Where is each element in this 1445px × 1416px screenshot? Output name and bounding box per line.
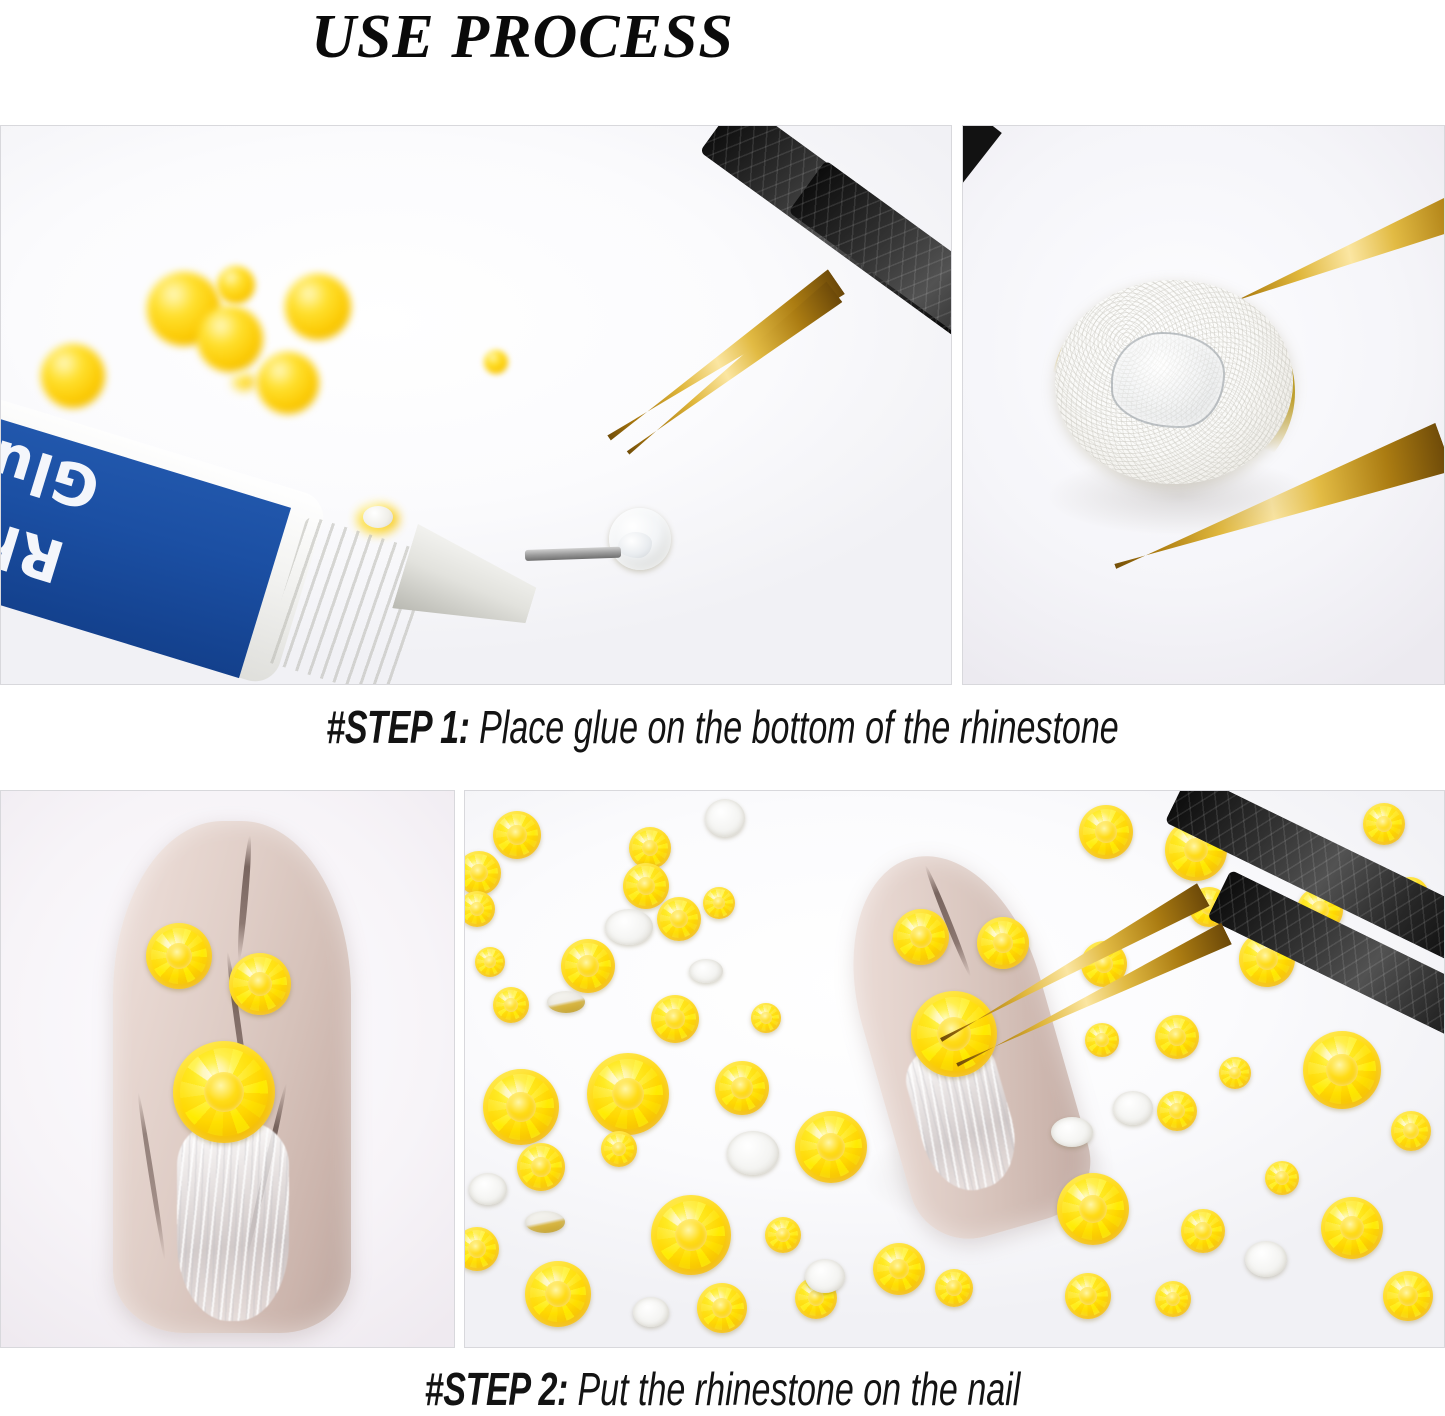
scattered-rhinestone-backside <box>689 959 723 983</box>
scattered-rhinestone <box>1321 1197 1383 1259</box>
scattered-rhinestone <box>483 1069 559 1145</box>
nail-result-scene <box>1 791 454 1347</box>
scattered-rhinestone-backside <box>633 1297 669 1327</box>
bokeh-rhinestone <box>233 374 255 390</box>
scattered-rhinestone <box>651 1195 731 1275</box>
scattered-rhinestone <box>1303 1031 1381 1109</box>
scattered-rhinestone <box>1157 1091 1197 1131</box>
bokeh-rhinestone <box>484 350 508 374</box>
scattered-rhinestone <box>623 863 669 909</box>
scattered-rhinestone-backside <box>525 1211 565 1233</box>
bokeh-rhinestone <box>217 266 255 304</box>
glue-droplet <box>618 532 652 558</box>
glue-bead-on-needle <box>363 506 393 528</box>
scattered-rhinestone <box>475 947 505 977</box>
scattered-rhinestone-backside <box>1051 1117 1093 1147</box>
scattered-rhinestone <box>935 1269 973 1307</box>
nail-glitter-streak <box>177 1121 289 1321</box>
scattered-rhinestone <box>1155 1281 1191 1317</box>
scattered-rhinestone <box>715 1061 769 1115</box>
bokeh-rhinestone <box>257 352 319 414</box>
rhinestone-on-nail <box>173 1041 275 1143</box>
page-title: USE PROCESS <box>0 2 1445 72</box>
bokeh-rhinestone <box>197 306 263 372</box>
scattered-rhinestone <box>493 987 529 1023</box>
step-2-image-row <box>0 790 1445 1348</box>
panel-nail-result <box>0 790 455 1348</box>
step-2-caption: #STEP 2: Put the rhinestone on the nail <box>188 1362 1257 1416</box>
scattered-rhinestone <box>1391 1111 1431 1151</box>
scattered-rhinestone <box>751 1003 781 1033</box>
nail-placement-scene <box>465 791 1444 1347</box>
scattered-rhinestone <box>765 1217 801 1253</box>
scattered-rhinestone <box>795 1111 867 1183</box>
scattered-rhinestone <box>1363 803 1405 845</box>
scattered-rhinestone <box>1181 1209 1225 1253</box>
scattered-rhinestone <box>1079 805 1133 859</box>
scattered-rhinestone <box>561 939 615 993</box>
scattered-rhinestone <box>517 1143 565 1191</box>
scattered-rhinestone <box>1155 1015 1199 1059</box>
rhinestone-on-nail <box>146 923 212 989</box>
glue-blob-on-back <box>1111 332 1225 428</box>
scattered-rhinestone <box>697 1283 747 1333</box>
scattered-rhinestone <box>657 897 701 941</box>
scattered-rhinestone-backside <box>469 1173 507 1205</box>
scattered-rhinestone <box>873 1243 925 1295</box>
scattered-rhinestone <box>1065 1273 1111 1319</box>
scattered-rhinestone-backside <box>805 1259 845 1293</box>
panel-glue-application: Glue Rhin <box>0 125 952 685</box>
scattered-rhinestone <box>1085 1023 1119 1057</box>
panel-rhinestone-backside <box>962 125 1445 685</box>
glue-application-scene: Glue Rhin <box>1 126 951 684</box>
scattered-rhinestone-backside <box>547 991 585 1013</box>
scattered-rhinestone <box>1219 1057 1251 1089</box>
step-1-image-row: Glue Rhin <box>0 125 1445 685</box>
step-2-label: #STEP 2: <box>425 1363 568 1415</box>
step-2-text: Put the rhinestone on the nail <box>568 1363 1020 1415</box>
step-1-text: Place glue on the bottom of the rhinesto… <box>470 701 1119 753</box>
panel-nail-placement <box>464 790 1445 1348</box>
bokeh-rhinestone <box>285 274 351 340</box>
scattered-rhinestone-backside <box>705 799 745 837</box>
scattered-rhinestone-backside <box>605 909 653 945</box>
step-1-caption: #STEP 1: Place glue on the bottom of the… <box>188 700 1257 754</box>
scattered-rhinestone <box>1057 1173 1129 1245</box>
scattered-rhinestone-backside <box>727 1131 779 1175</box>
scattered-rhinestone-backside <box>1245 1241 1287 1277</box>
scattered-rhinestone <box>703 887 735 919</box>
rhinestone-on-nail <box>893 909 949 965</box>
scattered-rhinestone <box>1383 1271 1433 1321</box>
rhinestone-on-nail <box>977 917 1029 969</box>
scattered-rhinestone <box>493 811 541 859</box>
scattered-rhinestone <box>525 1261 591 1327</box>
scattered-rhinestone <box>601 1131 637 1167</box>
rhinestone-on-nail <box>229 953 291 1015</box>
bokeh-rhinestone <box>41 344 105 408</box>
scattered-rhinestone <box>1265 1161 1299 1195</box>
scattered-rhinestone <box>651 995 699 1043</box>
scattered-rhinestone <box>587 1053 669 1135</box>
step-1-label: #STEP 1: <box>326 701 469 753</box>
rhinestone-backside-scene <box>963 126 1444 684</box>
scattered-rhinestone-backside <box>1113 1091 1153 1125</box>
